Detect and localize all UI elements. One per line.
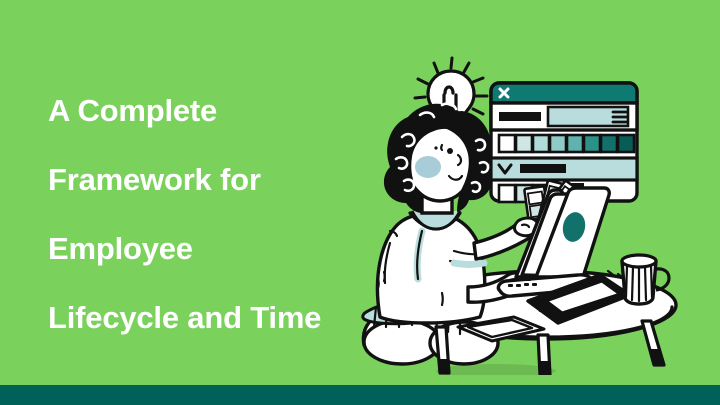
title-line-4: Lifecycle and Time (48, 283, 378, 352)
slide-title-block: A Complete Framework for Employee Lifecy… (48, 76, 378, 352)
hero-illustration: .o { fill:none; stroke:#111111; stroke-w… (350, 55, 720, 375)
swatch-row-top (499, 135, 634, 152)
eye (447, 148, 453, 154)
cheek-blush (415, 156, 441, 178)
title-line-1: A Complete (48, 76, 378, 145)
title-line-2: Framework for (48, 145, 378, 214)
accent-bottom-bar (0, 385, 720, 405)
section-label-bar (520, 164, 566, 173)
title-line-3: Employee (48, 214, 378, 283)
window-label-bar (499, 112, 541, 121)
presentation-slide: A Complete Framework for Employee Lifecy… (0, 0, 720, 405)
